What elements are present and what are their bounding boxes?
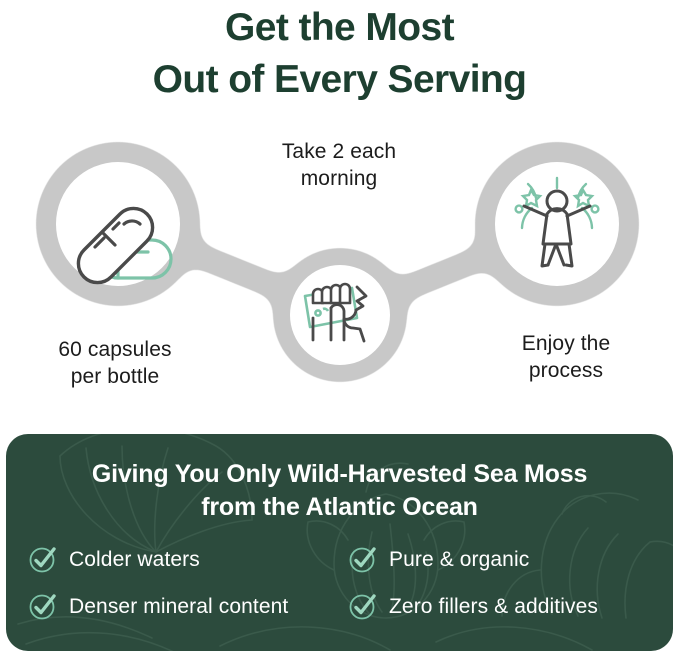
- step-label-2: Take 2 each morning: [232, 138, 446, 192]
- page-title-line2: Out of Every Serving: [0, 54, 679, 106]
- step-label-1-line2: per bottle: [71, 365, 160, 388]
- check-circle-icon: [28, 591, 58, 621]
- checklist-item: Denser mineral content: [6, 592, 336, 622]
- panel-title-line2: from the Atlantic Ocean: [20, 491, 659, 524]
- checklist-item-label: Denser mineral content: [69, 595, 288, 619]
- checklist-item: Pure & organic: [336, 545, 673, 575]
- step-circle-2-inner: [290, 265, 390, 365]
- checklist-item-label: Colder waters: [69, 548, 200, 572]
- benefits-checklist: Colder waters Pure & organic Denser mine…: [6, 536, 673, 630]
- checklist-item: Colder waters: [6, 545, 336, 575]
- step-label-2-line2: morning: [301, 167, 378, 190]
- check-circle-icon: [348, 591, 378, 621]
- step-label-2-line1: Take 2 each: [282, 140, 396, 163]
- panel-title-line1: Giving You Only Wild-Harvested Sea Moss: [92, 460, 587, 488]
- step-label-3-line1: Enjoy the: [522, 332, 610, 355]
- page-title: Get the Most Out of Every Serving: [0, 0, 679, 106]
- step-label-3-line2: process: [529, 359, 603, 382]
- step-label-3: Enjoy the process: [462, 330, 670, 384]
- checklist-item-label: Pure & organic: [389, 548, 529, 572]
- steps-flow: 60 capsules per bottle Take 2 each morni…: [0, 118, 679, 428]
- infographic-root: Get the Most Out of Every Serving: [0, 0, 679, 661]
- step-label-1: 60 capsules per bottle: [10, 336, 220, 390]
- check-circle-icon: [348, 544, 378, 574]
- step-label-1-line1: 60 capsules: [58, 338, 171, 361]
- page-title-line1: Get the Most: [225, 6, 454, 49]
- checklist-item-label: Zero fillers & additives: [389, 595, 598, 619]
- checklist-item: Zero fillers & additives: [336, 592, 673, 622]
- check-circle-icon: [28, 544, 58, 574]
- panel-title: Giving You Only Wild-Harvested Sea Moss …: [6, 434, 673, 524]
- sea-moss-panel: Giving You Only Wild-Harvested Sea Moss …: [6, 434, 673, 651]
